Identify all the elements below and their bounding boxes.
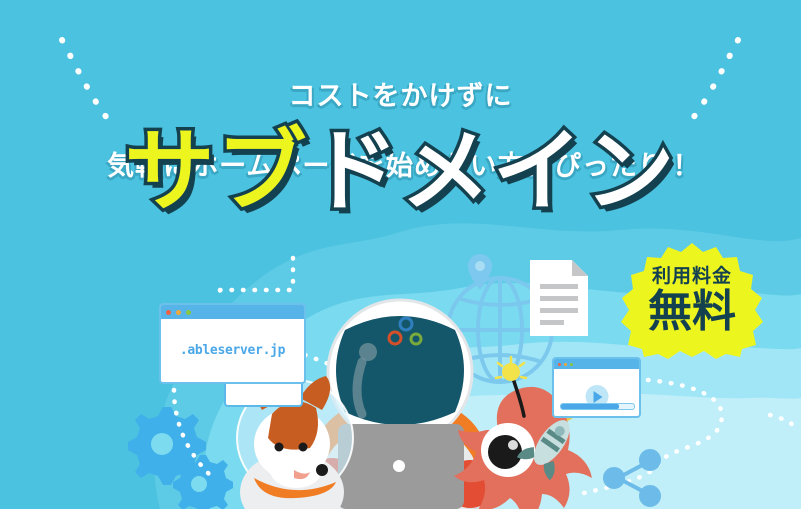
badge-text-group: 利用料金 無料 <box>616 241 768 359</box>
close-dot-icon[interactable] <box>166 310 171 315</box>
hero-banner: .ableserver.jp コストをかけずに 気軽にホームページを始めたい方に… <box>0 0 801 509</box>
document-icon <box>528 258 590 338</box>
video-progress-fill <box>561 404 619 409</box>
title-main-part: ドメイン <box>309 122 677 222</box>
window-titlebar <box>161 305 304 319</box>
play-triangle-icon <box>594 391 603 403</box>
video-minimize-dot-icon <box>564 363 567 366</box>
domain-url-text: .ableserver.jp <box>161 319 304 382</box>
browser-window-main[interactable]: .ableserver.jp <box>159 303 306 384</box>
headline-line-1: コストをかけずに <box>0 79 801 114</box>
maximize-dot-icon[interactable] <box>186 310 191 315</box>
video-player-window[interactable] <box>552 357 641 418</box>
video-progress-bar[interactable] <box>560 403 635 410</box>
page-title: サブドメイン <box>0 122 801 222</box>
video-maximize-dot-icon <box>570 363 573 366</box>
minimize-dot-icon[interactable] <box>176 310 181 315</box>
video-canvas <box>554 369 639 414</box>
badge-label-big: 無料 <box>648 289 736 335</box>
video-close-dot-icon <box>558 363 561 366</box>
video-titlebar <box>554 359 639 369</box>
badge-label-small: 利用料金 <box>652 266 732 288</box>
title-highlight-part: サブ <box>125 122 309 222</box>
free-price-badge: 利用料金 無料 <box>616 241 768 359</box>
